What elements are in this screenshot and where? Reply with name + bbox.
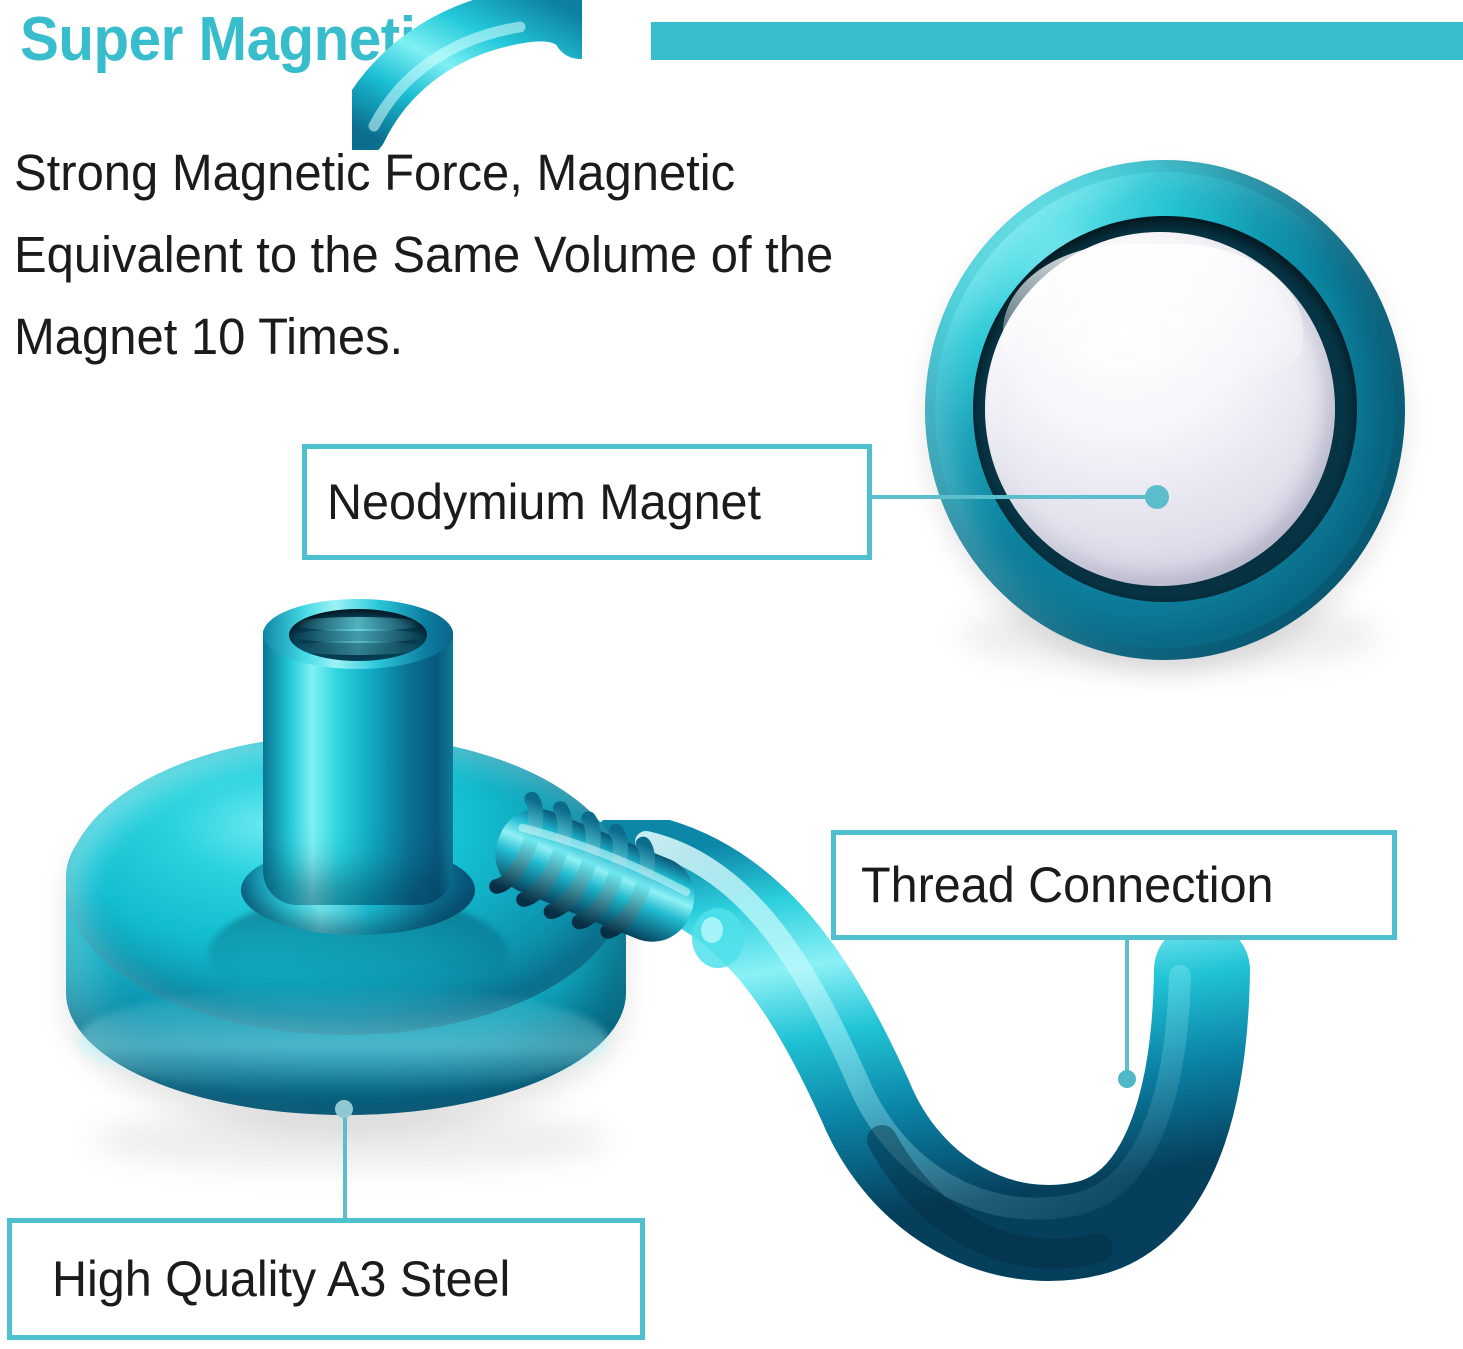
callout-thread-connection: Thread Connection <box>831 830 1397 940</box>
neodymium-magnet-disc <box>925 160 1405 660</box>
callout-label-steel: High Quality A3 Steel <box>52 1250 510 1308</box>
leader-line-neodymium <box>870 495 1160 499</box>
callout-neodymium-magnet: Neodymium Magnet <box>302 444 872 560</box>
threaded-stud <box>263 593 453 923</box>
leader-dot-steel <box>335 1100 353 1118</box>
disc-hook-arm <box>352 0 582 150</box>
bore-thread-line <box>293 641 423 655</box>
callout-label-thread: Thread Connection <box>861 856 1274 914</box>
leader-dot-thread <box>1118 1070 1136 1088</box>
threaded-screw <box>478 770 708 985</box>
callout-label-neodymium: Neodymium Magnet <box>327 473 761 531</box>
product-infographic: Super Magnetic Strong Magnetic Force, Ma… <box>0 0 1463 1349</box>
leader-line-steel <box>343 1110 347 1220</box>
leader-dot-neodymium <box>1145 485 1169 509</box>
product-artwork <box>0 0 1463 1349</box>
leader-line-thread <box>1125 938 1129 1080</box>
disc-face-sheen <box>1003 244 1303 394</box>
callout-a3-steel: High Quality A3 Steel <box>7 1218 645 1340</box>
base-edge-highlight <box>78 985 608 1095</box>
